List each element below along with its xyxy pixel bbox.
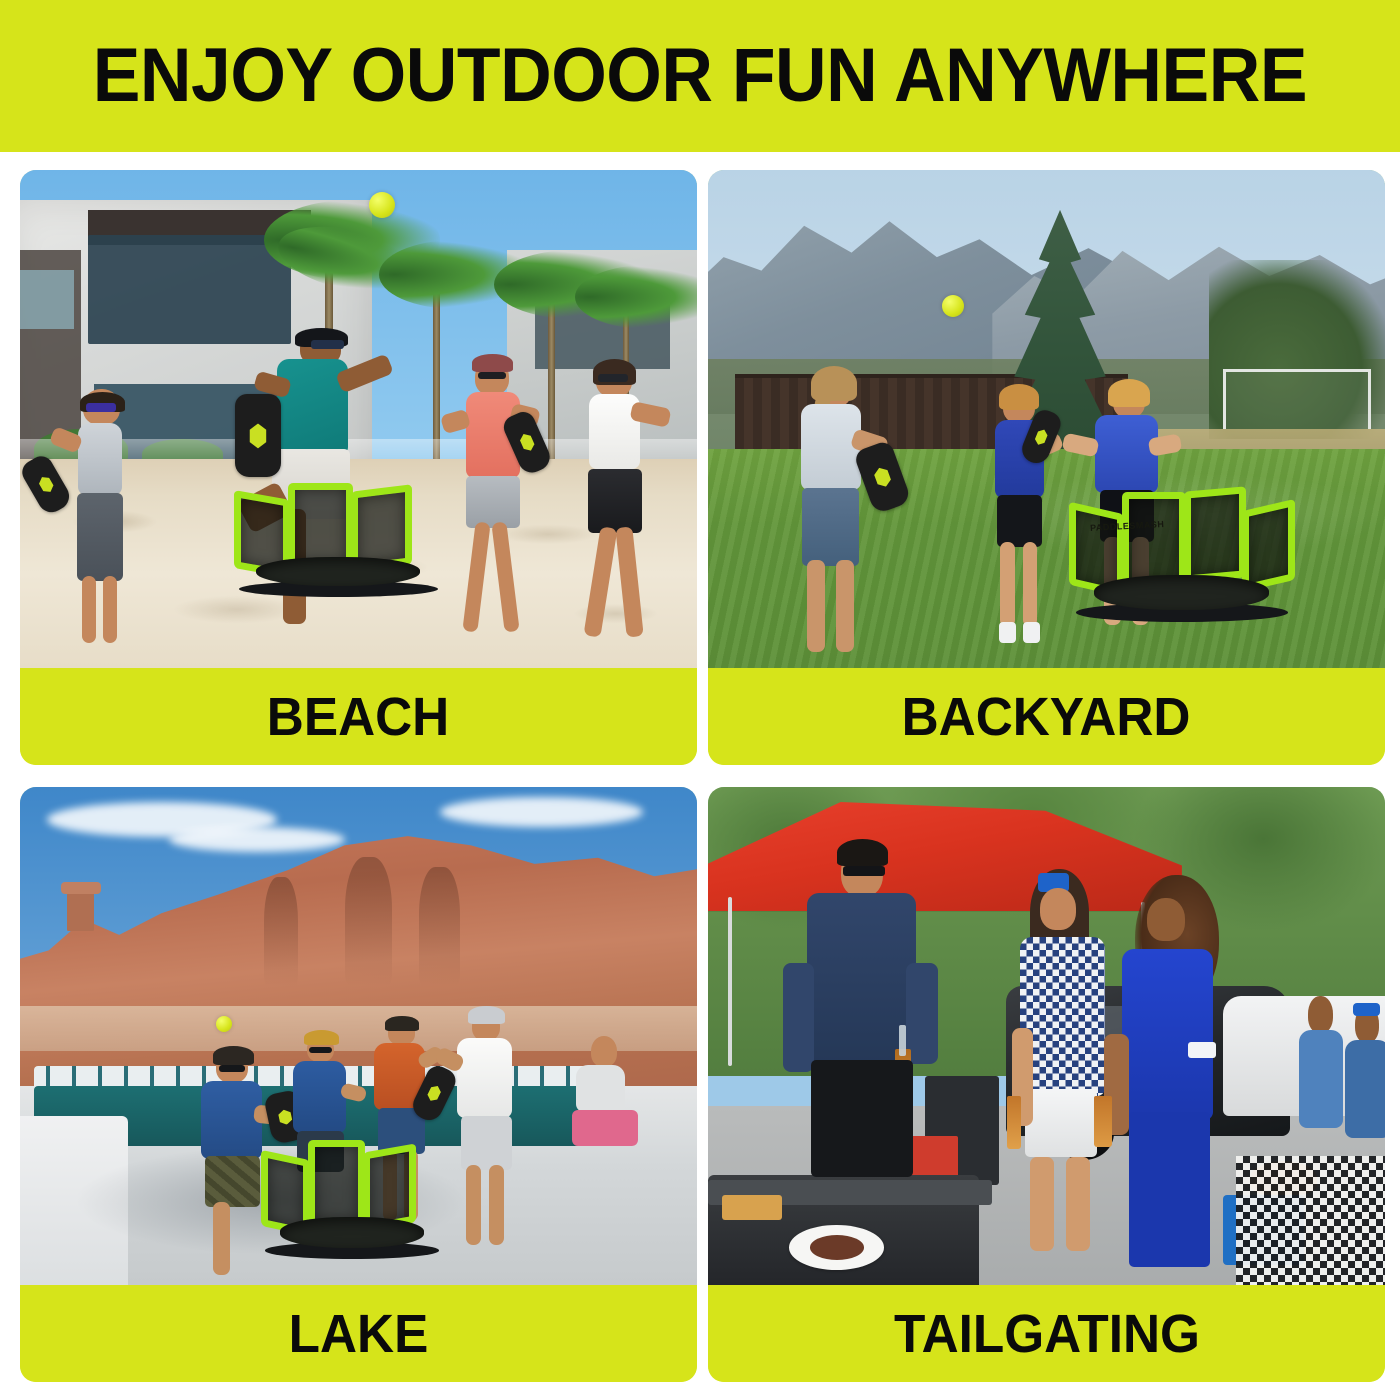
- tailgate-person-jersey: [1101, 887, 1257, 1275]
- card-tailgating[interactable]: TAILGATING: [708, 787, 1385, 1382]
- lake-front-sunglasses: [219, 1065, 245, 1072]
- lake-front-camo-shorts: [205, 1156, 260, 1206]
- cliff-streak-2: [345, 857, 392, 986]
- backyard-soccer-goal: [1223, 369, 1372, 429]
- lake-back-cap: [304, 1030, 339, 1045]
- backyard-player-woman: [776, 369, 891, 658]
- seated-head: [591, 1036, 618, 1067]
- tailgate-person-bg-2: [1338, 1006, 1385, 1175]
- coral-player-leg-1: [462, 521, 490, 632]
- canopy-pole-left: [728, 897, 732, 1066]
- cliff-streak-1: [264, 877, 298, 987]
- card-beach[interactable]: BEACH: [20, 170, 697, 765]
- card-lake[interactable]: LAKE: [20, 787, 697, 1382]
- tailgate-hotdog-buns: [722, 1195, 783, 1220]
- server-right-arm: [335, 353, 393, 393]
- tailgate-man-pants: [811, 1060, 913, 1177]
- lake-front-shirt: [201, 1081, 262, 1159]
- beach-player-coral: [440, 354, 548, 643]
- photo-backyard: PADDLESMASH: [708, 170, 1385, 668]
- jersey-skirt: [1129, 1112, 1210, 1267]
- lake-back-shirt: [293, 1061, 346, 1133]
- kid1-leg-1: [1000, 542, 1014, 627]
- kid2-hair: [1108, 379, 1150, 407]
- tailgate-man-hair: [837, 839, 888, 866]
- left-player-leg-1: [82, 576, 96, 643]
- page-title: ENJOY OUTDOOR FUN ANYWHERE: [93, 38, 1307, 114]
- net-floor-beach: [256, 557, 421, 587]
- paddlesmash-net-lake[interactable]: [257, 1136, 447, 1256]
- lake-hoodoo-cap: [61, 882, 102, 894]
- bg1-shirt: [1299, 1030, 1343, 1128]
- kid2-shirt: [1095, 415, 1158, 493]
- tailgate-person-man: [776, 847, 952, 1235]
- woman-leg-2: [836, 560, 854, 652]
- woman-jean-shorts: [802, 488, 858, 566]
- photo-beach: [20, 170, 697, 668]
- kid1-shoe-1: [999, 622, 1016, 643]
- lake-back-sunglasses: [309, 1047, 332, 1053]
- net-floor-lake: [280, 1217, 424, 1248]
- bg2-shirt: [1345, 1040, 1385, 1138]
- tailgate-man-left-arm: [783, 963, 815, 1072]
- beach-balcony-glass: [20, 270, 74, 330]
- lake-white-shorts: [461, 1116, 512, 1171]
- jersey-drink: [1094, 1096, 1111, 1146]
- server-sunglasses: [311, 340, 344, 348]
- bg2-headband: [1353, 1003, 1380, 1017]
- jersey-top: [1122, 949, 1212, 1120]
- caption-label-lake: LAKE: [289, 1307, 429, 1361]
- left-player-sunglasses: [86, 403, 116, 411]
- left-player-leggings: [77, 493, 122, 581]
- game-ball-backyard: [942, 295, 964, 317]
- woman-leg-1: [807, 560, 825, 652]
- kid1-shorts: [997, 495, 1042, 547]
- plaid-shorts: [1025, 1089, 1097, 1157]
- header-banner: ENJOY OUTDOOR FUN ANYWHERE: [0, 0, 1400, 152]
- caption-label-backyard: BACKYARD: [902, 690, 1191, 744]
- lake-white-cap: [468, 1006, 505, 1023]
- net-floor-backyard: [1094, 575, 1269, 610]
- right-player-shorts: [588, 469, 642, 533]
- right-player-leg-1: [583, 526, 617, 637]
- kid1-shoe-2: [1023, 622, 1040, 643]
- lake-white-leg-2: [489, 1165, 504, 1245]
- tailgate-burger-patty: [810, 1235, 864, 1260]
- net-panel-3-backyard: [1184, 486, 1246, 583]
- photo-tailgating: [708, 787, 1385, 1285]
- coral-player-leg-2: [492, 521, 520, 632]
- lake-person-seated: [555, 1036, 650, 1156]
- feature-grid: BEACH: [20, 170, 1380, 1382]
- seated-shorts: [572, 1110, 638, 1146]
- bg1-head: [1308, 996, 1332, 1033]
- paddlesmash-net-backyard[interactable]: PADDLESMASH: [1067, 484, 1297, 618]
- beach-player-right: [562, 359, 677, 648]
- backyard-player-kid-1: [972, 389, 1067, 648]
- lake-front-leg: [213, 1202, 230, 1275]
- lake-front-hair: [213, 1046, 254, 1064]
- plaid-face: [1040, 888, 1076, 930]
- lake-white-shirt: [457, 1038, 512, 1118]
- lake-cloud-3: [440, 797, 643, 827]
- tailgate-man-bottle-neck: [899, 1025, 906, 1056]
- caption-beach: BEACH: [20, 668, 697, 765]
- jersey-sleeve-stripe: [1188, 1042, 1216, 1058]
- lake-cloud-2: [169, 827, 345, 852]
- caption-lake: LAKE: [20, 1285, 697, 1382]
- plaid-drink: [1007, 1096, 1021, 1149]
- lake-white-leg-1: [466, 1165, 481, 1245]
- net-panel-2-lake: [308, 1140, 365, 1226]
- net-panel-2-beach: [288, 483, 353, 568]
- promo-page: ENJOY OUTDOOR FUN ANYWHERE: [0, 0, 1400, 1400]
- kid1-leg-2: [1023, 542, 1037, 627]
- coral-player-shorts: [466, 476, 520, 528]
- lake-player-white: [440, 1006, 535, 1255]
- right-player-leg-2: [616, 526, 645, 637]
- game-ball-beach: [369, 192, 395, 218]
- paddle-server: [235, 394, 281, 477]
- photo-lake: [20, 787, 697, 1285]
- plaid-leg-1: [1030, 1157, 1054, 1252]
- kid1-hair: [999, 384, 1039, 410]
- tailgate-man-sunglasses: [843, 866, 885, 876]
- net-panel-4-backyard: [1242, 499, 1295, 592]
- hawaiian-hair: [385, 1016, 419, 1031]
- jersey-face: [1147, 898, 1184, 941]
- net-panel-2-backyard: [1122, 492, 1186, 586]
- coral-player-cap: [472, 354, 513, 371]
- woman-shirt: [801, 404, 861, 491]
- cliff-streak-3: [419, 867, 460, 987]
- left-player-top: [78, 423, 121, 496]
- right-player-sunglasses: [598, 374, 628, 382]
- caption-tailgating: TAILGATING: [708, 1285, 1385, 1382]
- card-backyard[interactable]: PADDLESMASH BACKYARD: [708, 170, 1385, 765]
- beach-player-left: [47, 389, 155, 648]
- seated-top: [576, 1065, 625, 1113]
- caption-label-beach: BEACH: [267, 690, 449, 744]
- paddlesmash-net-beach: [230, 479, 447, 594]
- plaid-leg-2: [1066, 1157, 1090, 1252]
- caption-label-tailgating: TAILGATING: [894, 1307, 1200, 1361]
- left-player-leg-2: [103, 576, 117, 643]
- coral-player-sunglasses: [478, 372, 506, 380]
- caption-backyard: BACKYARD: [708, 668, 1385, 765]
